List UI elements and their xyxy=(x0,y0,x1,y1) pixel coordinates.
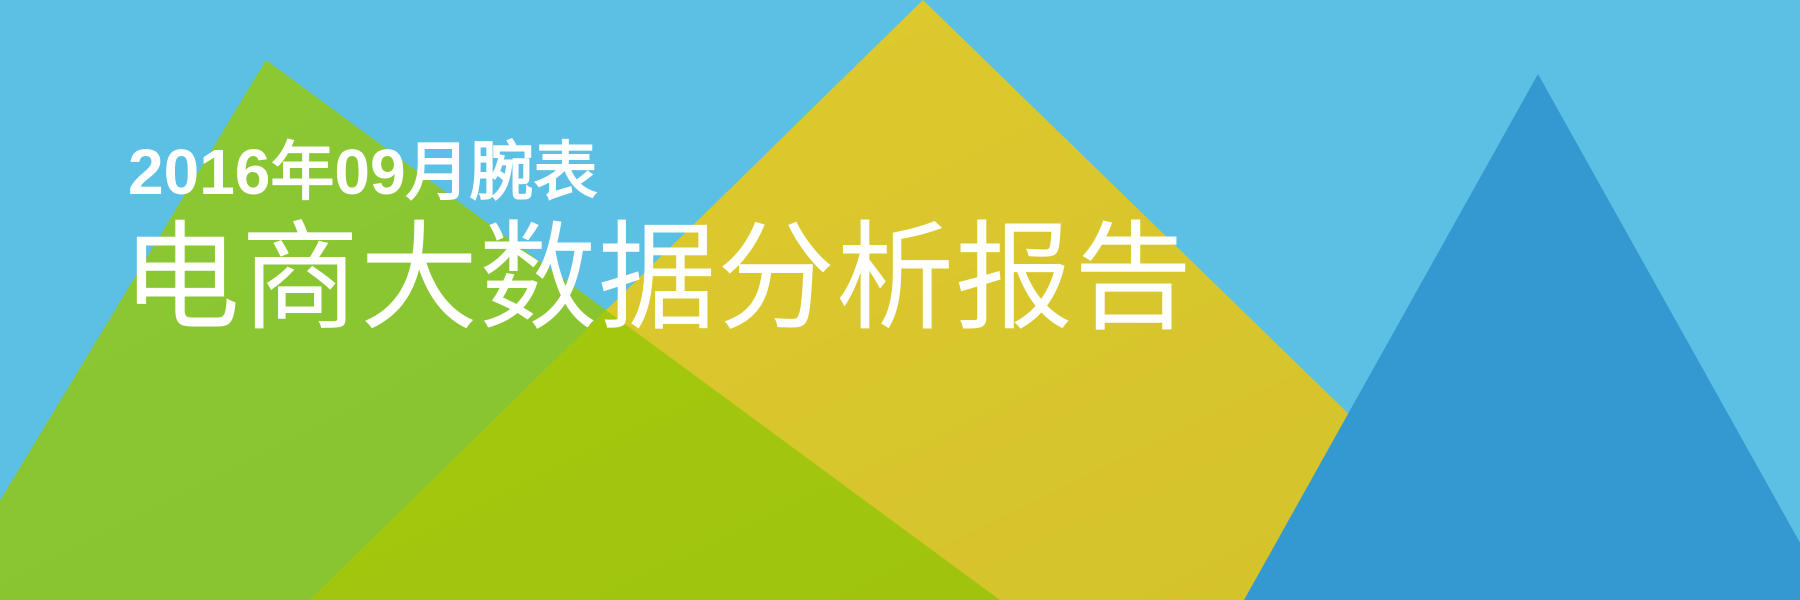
report-cover-banner: 2016年09月腕表 电商大数据分析报告 xyxy=(0,0,1800,600)
decorative-background xyxy=(0,0,1800,600)
